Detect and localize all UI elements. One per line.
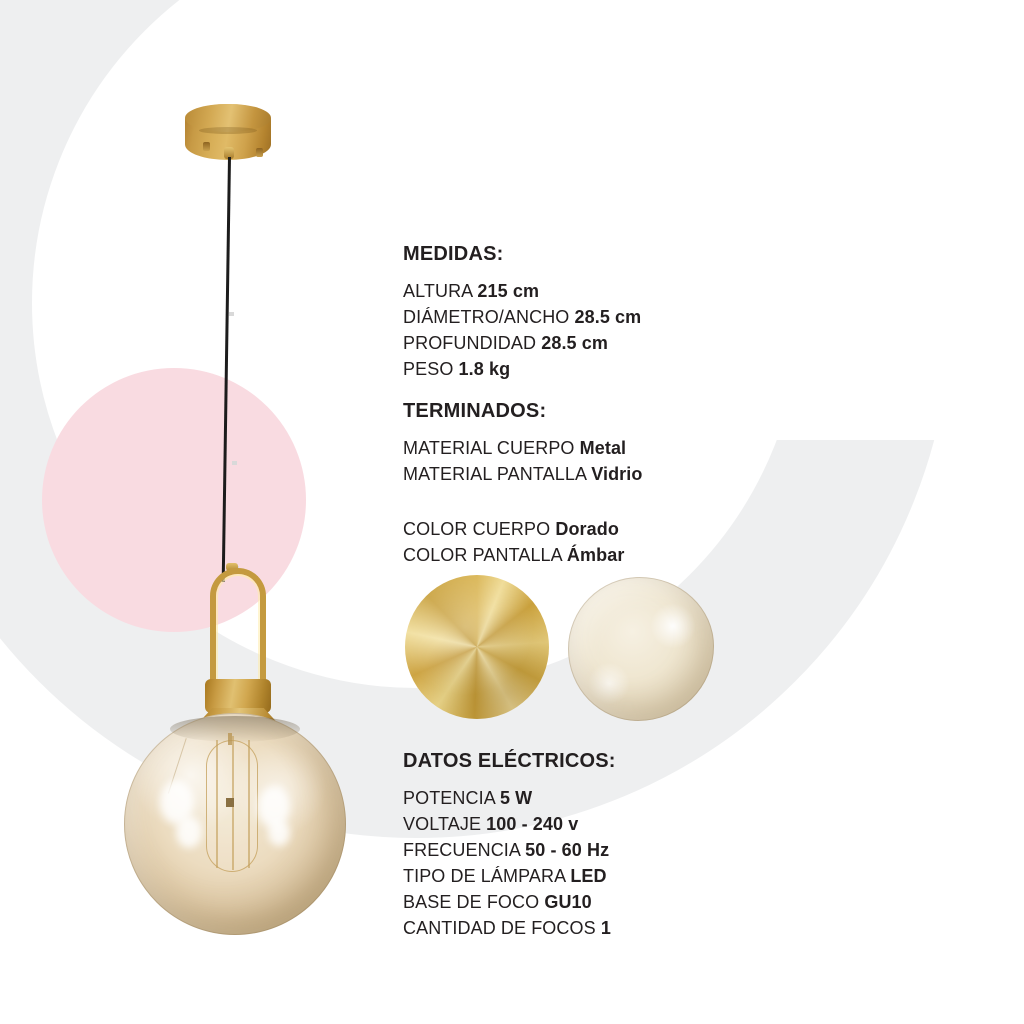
spec-value: Vidrio (591, 464, 642, 484)
spec-value: 1 (601, 918, 611, 938)
spec-value: 28.5 cm (541, 333, 608, 353)
cord-clip (232, 461, 237, 465)
spec-row-material-cuerpo: MATERIAL CUERPO Metal (403, 435, 642, 461)
spec-row-material-pantalla: MATERIAL PANTALLA Vidrio (403, 461, 642, 487)
pendant-lamp-photo (0, 0, 400, 1024)
spec-row-diametro: DIÁMETRO/ANCHO 28.5 cm (403, 304, 641, 330)
spec-row-tipo-lampara: TIPO DE LÁMPARA LED (403, 863, 616, 889)
electricos-title: DATOS ELÉCTRICOS: (403, 750, 616, 773)
spec-row-base-foco: BASE DE FOCO GU10 (403, 889, 616, 915)
model-banner-text: MODELO: 2CLDI20 (405, 179, 559, 199)
gold-swatch-shading (405, 575, 549, 719)
spec-row-color-pantalla: COLOR PANTALLA Ámbar (403, 542, 624, 568)
spec-value: GU10 (544, 892, 591, 912)
spec-label: BASE DE FOCO (403, 892, 539, 912)
spec-value: Dorado (555, 519, 619, 539)
spec-label: CANTIDAD DE FOCOS (403, 918, 596, 938)
section-colores: COLOR CUERPO Dorado COLOR PANTALLA Ámbar (403, 516, 624, 568)
spec-label: ALTURA (403, 281, 472, 301)
spec-row-voltaje: VOLTAJE 100 - 240 v (403, 811, 616, 837)
spec-label: VOLTAJE (403, 814, 481, 834)
terminados-title: TERMINADOS: (403, 400, 642, 423)
section-medidas: MEDIDAS: ALTURA 215 cm DIÁMETRO/ANCHO 28… (403, 243, 641, 382)
spec-value: LED (570, 866, 606, 886)
spec-row-peso: PESO 1.8 kg (403, 356, 641, 382)
spec-row-potencia: POTENCIA 5 W (403, 785, 616, 811)
gray-ring-mask (600, 0, 1024, 440)
spec-value: Ámbar (567, 545, 625, 565)
section-datos-electricos: DATOS ELÉCTRICOS: POTENCIA 5 W VOLTAJE 1… (403, 750, 616, 941)
canopy-seam (199, 127, 257, 134)
spec-label: MATERIAL PANTALLA (403, 464, 586, 484)
spec-label: POTENCIA (403, 788, 495, 808)
globe-rim (124, 713, 346, 935)
spec-label: COLOR CUERPO (403, 519, 550, 539)
canopy-screw-right (256, 148, 263, 157)
spec-row-cantidad-focos: CANTIDAD DE FOCOS 1 (403, 915, 616, 941)
cord-clip (229, 312, 234, 316)
model-label: MODELO: (405, 179, 486, 198)
spec-value: Metal (580, 438, 627, 458)
medidas-title: MEDIDAS: (403, 243, 641, 266)
spec-row-color-cuerpo: COLOR CUERPO Dorado (403, 516, 624, 542)
spec-row-frecuencia: FRECUENCIA 50 - 60 Hz (403, 837, 616, 863)
spec-row-profundidad: PROFUNDIDAD 28.5 cm (403, 330, 641, 356)
gold-arch-yoke-highlight (216, 574, 260, 694)
canopy-screw-left (203, 142, 210, 151)
spec-label: PESO (403, 359, 453, 379)
spec-label: FRECUENCIA (403, 840, 520, 860)
spec-label: COLOR PANTALLA (403, 545, 562, 565)
lamp-holder-cylinder (205, 679, 271, 713)
spec-label: TIPO DE LÁMPARA (403, 866, 565, 886)
spec-value: 1.8 kg (459, 359, 511, 379)
spec-value: 215 cm (477, 281, 539, 301)
model-value: 2CLDI20 (491, 179, 559, 198)
spec-label: MATERIAL CUERPO (403, 438, 575, 458)
spec-row-altura: ALTURA 215 cm (403, 278, 641, 304)
spec-label: DIÁMETRO/ANCHO (403, 307, 569, 327)
spec-value: 100 - 240 v (486, 814, 578, 834)
spec-value: 28.5 cm (575, 307, 642, 327)
spec-value: 5 W (500, 788, 532, 808)
section-terminados: TERMINADOS: MATERIAL CUERPO Metal MATERI… (403, 400, 642, 487)
suspension-cord (222, 157, 231, 582)
spec-value: 50 - 60 Hz (525, 840, 609, 860)
model-banner: MODELO: 2CLDI20 (72, 172, 748, 206)
spec-label: PROFUNDIDAD (403, 333, 536, 353)
